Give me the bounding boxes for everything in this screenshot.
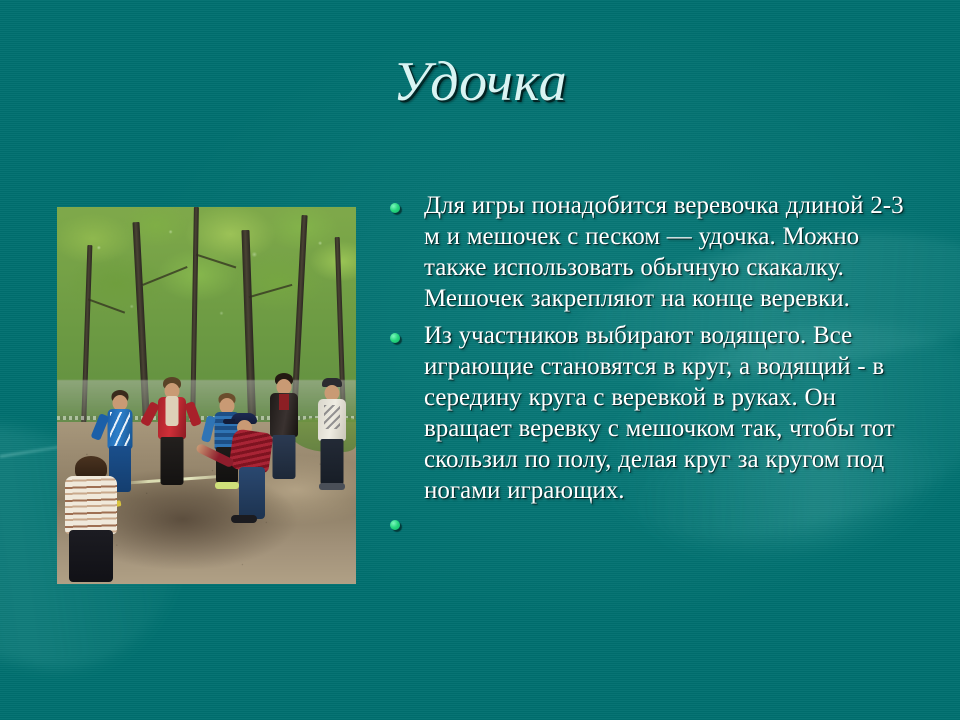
photo-child-jacket-stripes [110,412,130,446]
photo-child-torso [65,476,117,534]
slide-photo [57,207,356,584]
photo-child-collar [279,394,289,410]
presentation-slide: Удочка [0,0,960,720]
photo-child-scarf [165,396,178,426]
photo-illustration [57,207,356,584]
photo-child-shoes [231,515,257,523]
bullet-item-3 [388,512,908,542]
photo-child-legs [160,437,183,485]
slide-title: Удочка [0,52,960,114]
photo-child-light-tee [311,377,353,566]
photo-child-leader-spinning-rope [221,411,295,584]
photo-child-legs [69,530,113,582]
bullet-item-1: Для игры понадобится веревочка длиной 2-… [388,190,908,314]
photo-child-shoes [319,483,345,490]
photo-child-red-jacket [150,377,194,573]
bullet-dot-icon [390,333,400,343]
bullet-text-2: Из участников выбирают водящего. Все игр… [424,320,908,506]
slide-body: Для игры понадобится веревочка длиной 2-… [388,190,908,548]
photo-child-shirt-print [324,405,340,429]
bullet-dot-icon [390,520,400,530]
bullet-item-2: Из участников выбирают водящего. Все игр… [388,320,908,506]
bullet-text-1: Для игры понадобится веревочка длиной 2-… [424,190,908,314]
photo-child-legs [321,439,344,485]
photo-child-legs [239,467,265,519]
bullet-dot-icon [390,203,400,213]
photo-child-striped-sweater-foreground [60,456,122,584]
